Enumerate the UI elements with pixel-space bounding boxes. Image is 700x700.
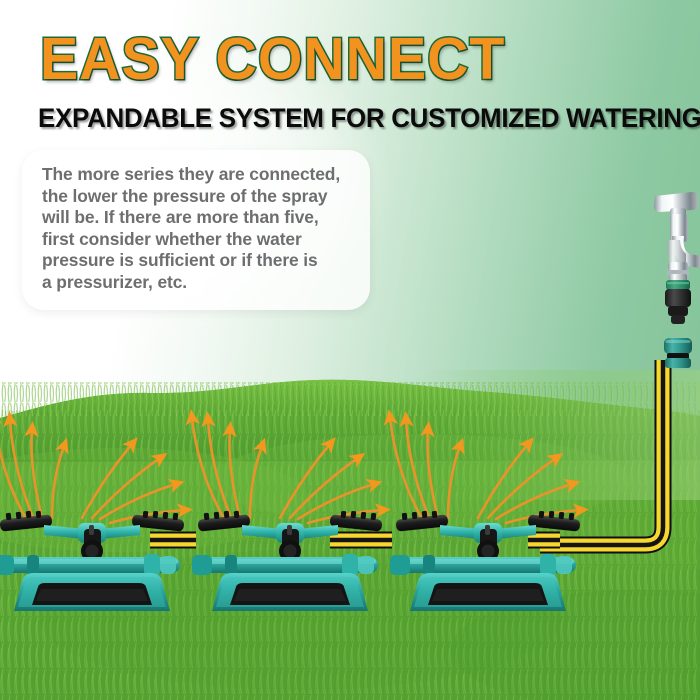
page-subtitle: EXPANDABLE SYSTEM FOR CUSTOMIZED WATERIN… [38, 103, 700, 133]
garden-tap-with-connector [640, 188, 700, 368]
info-callout: The more series they are connected, the … [22, 150, 370, 310]
product-infographic: .arw{stroke:#E8942A;stroke-width:2.6;fil… [0, 0, 700, 700]
lawn-sprinkler-3 [388, 495, 588, 615]
lawn-sprinkler-1 [0, 495, 192, 615]
page-title: EASY CONNECT [40, 28, 505, 90]
callout-body-text: The more series they are connected, the … [42, 164, 352, 294]
lawn-sprinkler-2 [190, 495, 390, 615]
